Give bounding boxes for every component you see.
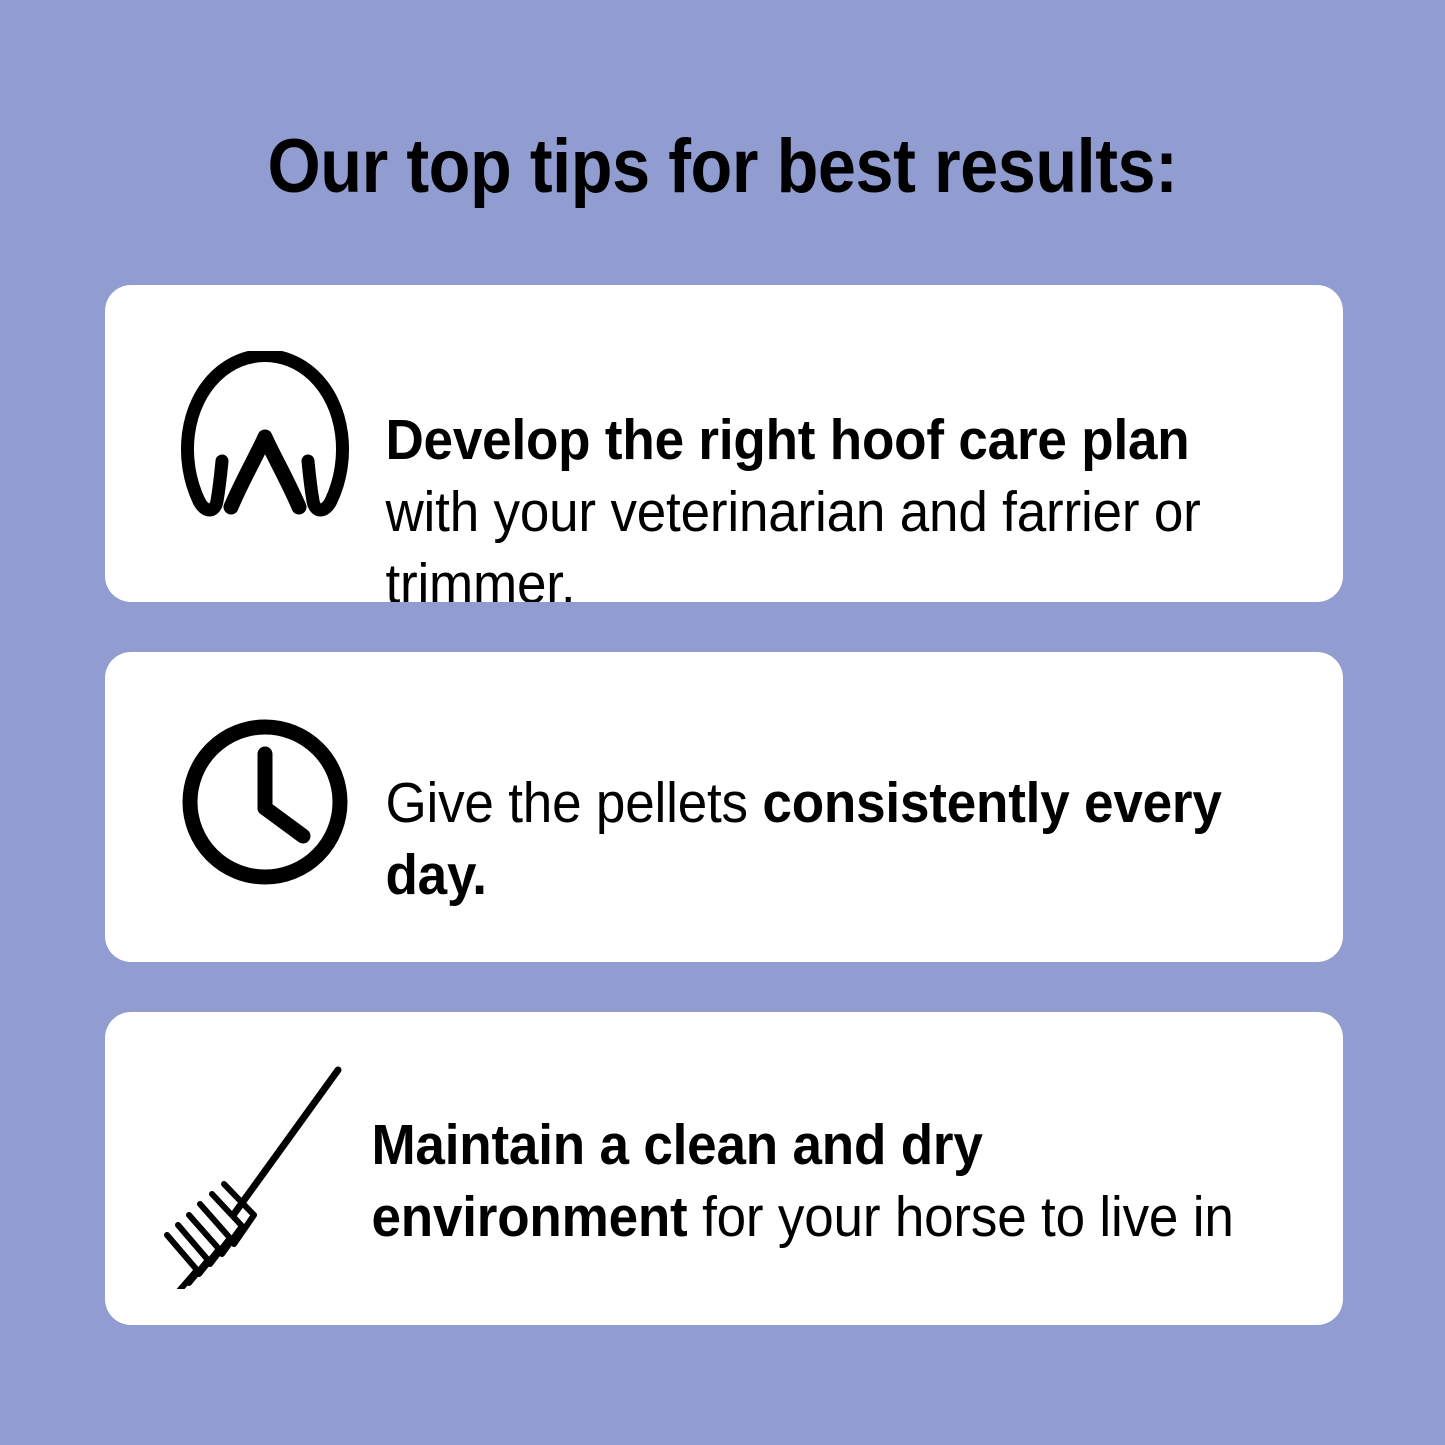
tip-card-hoof-care: Develop the right hoof care plan with yo…: [105, 285, 1343, 602]
tip-text-regular-2: Give the pellets: [385, 771, 762, 835]
tip-card-consistency: Give the pellets consistently every day.: [105, 652, 1343, 962]
tip-text-clean-environment: Maintain a clean and dry environment for…: [351, 1109, 1236, 1253]
page-title: Our top tips for best results:: [72, 129, 1373, 205]
tip-text-consistency: Give the pellets consistently every day.: [365, 767, 1237, 911]
tip-text-regular-1: with your veterinarian and farrier or tr…: [385, 480, 1200, 602]
tip-text-hoof-care: Develop the right hoof care plan with yo…: [365, 404, 1237, 602]
clock-icon: [165, 710, 365, 888]
tip-text-regular-3: for your horse to live in: [688, 1185, 1234, 1249]
hoof-icon: [165, 347, 365, 521]
pitchfork-icon: [151, 1052, 351, 1289]
tip-text-bold-1: Develop the right hoof care plan: [385, 408, 1189, 472]
tips-list: Develop the right hoof care plan with yo…: [105, 285, 1343, 1325]
tip-card-clean-environment: Maintain a clean and dry environment for…: [105, 1012, 1343, 1325]
poster-root: Our top tips for best results: Develop t…: [0, 0, 1445, 1445]
